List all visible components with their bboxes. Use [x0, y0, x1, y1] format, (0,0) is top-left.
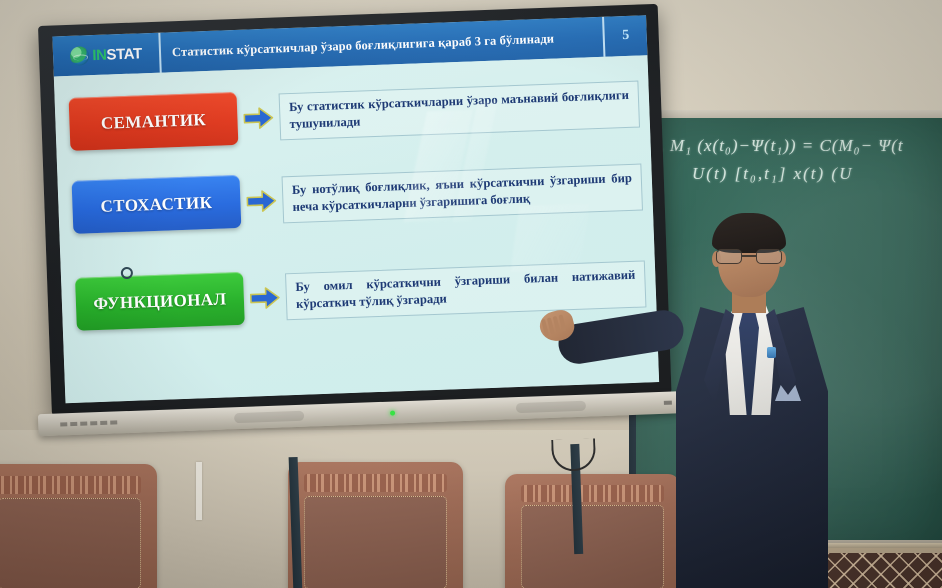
- category-tag-funksional[interactable]: ФУНКЦИОНАЛ: [75, 272, 245, 331]
- chalkboard-line-1: 3. M₁ (x(t₀)−Ψ(t₁)) = C(M₀− Ψ(t: [650, 136, 904, 156]
- chair-trim: [0, 476, 141, 494]
- glasses-icon: [716, 249, 782, 264]
- chair-back-panel: [0, 498, 141, 588]
- logo-text-in: IN: [92, 46, 107, 63]
- lapel-pin-icon: [767, 347, 776, 358]
- globe-icon: [70, 46, 90, 66]
- arrow-right-icon: [243, 285, 286, 310]
- logo-text-stat: STAT: [106, 45, 142, 63]
- presenter-hair: [712, 213, 786, 253]
- arrow-right-icon: [240, 188, 283, 213]
- instat-logo: INSTAT: [52, 33, 161, 77]
- chair-back-panel: [304, 496, 448, 588]
- power-led-icon: [390, 410, 395, 415]
- whiteboard-control-keys[interactable]: [60, 420, 117, 426]
- category-description-stoxastik: Бу нотўлиқ боғлиқлик, яъни кўрсаткични ў…: [282, 163, 643, 224]
- chair-trim: [304, 474, 448, 492]
- category-description-funksional: Бу омил кўрсаткични ўзгариши билан натиж…: [285, 260, 646, 321]
- slide-item-row: СЕМАНТИК Бу статистик кўрсаткичларни ўза…: [69, 78, 641, 151]
- category-tag-stoxastik[interactable]: СТОХАСТИК: [72, 175, 242, 234]
- slide-item-row: СТОХАСТИК Бу нотўлиқ боғлиқлик, яъни кўр…: [72, 161, 644, 234]
- presenter: [640, 205, 870, 588]
- chalkboard-line-2: U(t) [t₀,t₁] x(t) (U: [692, 164, 853, 184]
- category-tag-semantik[interactable]: СЕМАНТИК: [69, 92, 239, 151]
- category-description-semantik: Бу статистик кўрсаткичларни ўзаро маънав…: [279, 80, 640, 141]
- slide-number-badge: 5: [602, 15, 647, 57]
- classroom-scene: 3. M₁ (x(t₀)−Ψ(t₁)) = C(M₀− Ψ(t U(t) [t₀…: [0, 0, 942, 588]
- speaker-grille: [234, 411, 304, 423]
- wall-panel-edge: [196, 462, 202, 520]
- arrow-right-icon: [237, 105, 280, 130]
- chair: [288, 462, 463, 588]
- chair: [0, 464, 157, 588]
- speaker-grille: [516, 401, 586, 413]
- interactive-whiteboard[interactable]: INSTAT Статистик кўрсаткичлар ўзаро боғл…: [38, 3, 683, 445]
